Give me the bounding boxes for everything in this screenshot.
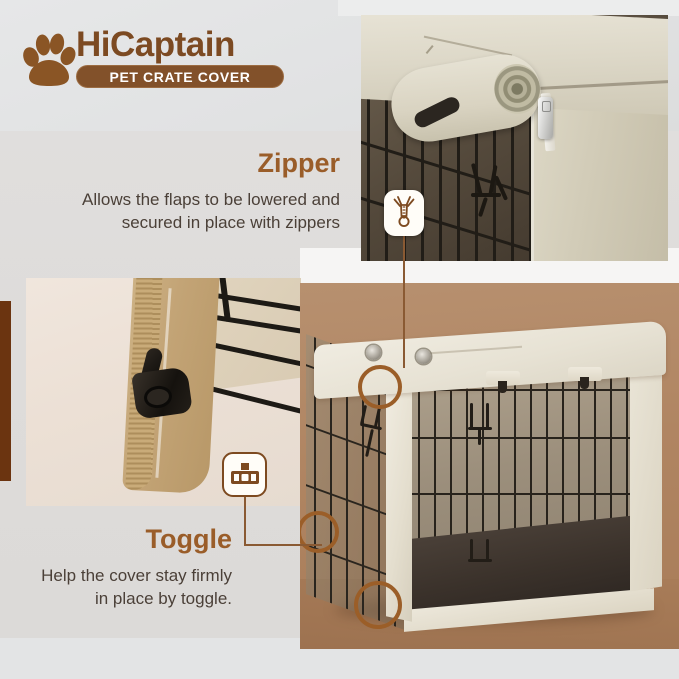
brand-name: HiCaptain [76,24,235,66]
connector-zipper [403,236,405,368]
feature-description-zipper-line2: secured in place with zippers [0,211,340,234]
feature-description-zipper-line1: Allows the flaps to be lowered and [0,188,340,211]
paw-print-icon [22,30,76,88]
grommet [416,349,431,364]
annotation-circle-zipper [358,365,402,409]
crate-latch-side [358,405,392,445]
feature-description-toggle: Help the cover stay firmly in place by t… [0,564,232,610]
cover-tab [486,371,520,385]
grommet [366,345,381,360]
toggle-icon [230,462,260,488]
feature-heading-zipper: Zipper [0,148,340,179]
brand-logo: HiCaptain PET CRATE COVER [22,24,282,94]
toggle-icon-badge [222,452,267,497]
annotation-circle-toggle-bottom [354,581,402,629]
infographic-canvas: HiCaptain PET CRATE COVER [0,0,679,679]
zipper-slider-photo [538,97,553,139]
feature-description-toggle-line2: in place by toggle. [0,587,232,610]
background-white-band-top [338,0,679,16]
zipper-icon-badge [384,190,424,236]
connector-toggle-vertical [244,497,246,545]
photo-product-overview [300,283,679,649]
crate-latch [466,403,500,443]
brand-tagline-badge: PET CRATE COVER [76,65,284,88]
feature-description-toggle-line1: Help the cover stay firmly [0,564,232,587]
zipper-icon [392,196,416,230]
crate-latch-lower [466,539,500,579]
feature-heading-toggle: Toggle [0,524,232,555]
toggle-clip-photo [130,346,192,420]
connector-toggle-horizontal [244,544,322,546]
brand-tagline-text: PET CRATE COVER [110,69,251,85]
left-accent-bar [0,301,11,481]
feature-description-zipper: Allows the flaps to be lowered and secur… [0,188,340,234]
cover-tab [568,367,602,381]
